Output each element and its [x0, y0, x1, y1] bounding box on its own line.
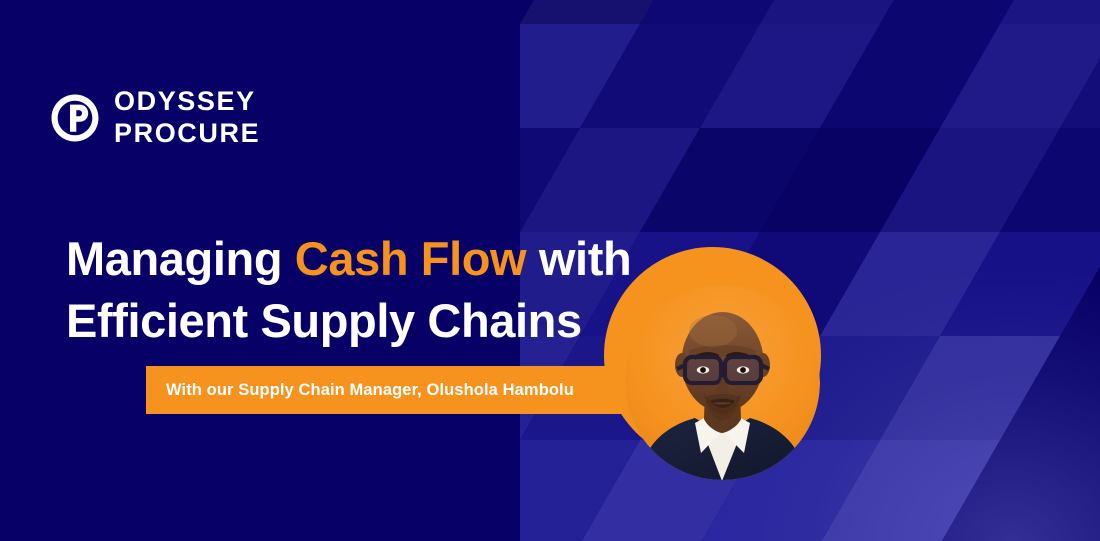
promo-banner-canvas: ODYSSEY PROCURE Managing Cash Flow with … — [0, 0, 1100, 541]
speaker-avatar — [625, 285, 820, 480]
headline-part-2: with — [526, 232, 631, 285]
brand-logo: ODYSSEY PROCURE — [50, 88, 260, 147]
headline-accent: Cash Flow — [295, 232, 526, 285]
speaker-banner: With our Supply Chain Manager, Olushola … — [146, 366, 666, 414]
headline-line-2: Efficient Supply Chains — [66, 290, 686, 352]
page-title: Managing Cash Flow with Efficient Supply… — [66, 228, 686, 352]
odyssey-circular-p-mark-icon — [50, 93, 100, 143]
headline-part-1: Managing — [66, 232, 295, 285]
headline-line-1: Managing Cash Flow with — [66, 228, 686, 290]
brand-name-line1: ODYSSEY — [114, 88, 260, 115]
brand-wordmark: ODYSSEY PROCURE — [114, 88, 260, 147]
brand-name-line2: PROCURE — [114, 120, 260, 147]
speaker-banner-label: With our Supply Chain Manager, Olushola … — [166, 381, 574, 400]
